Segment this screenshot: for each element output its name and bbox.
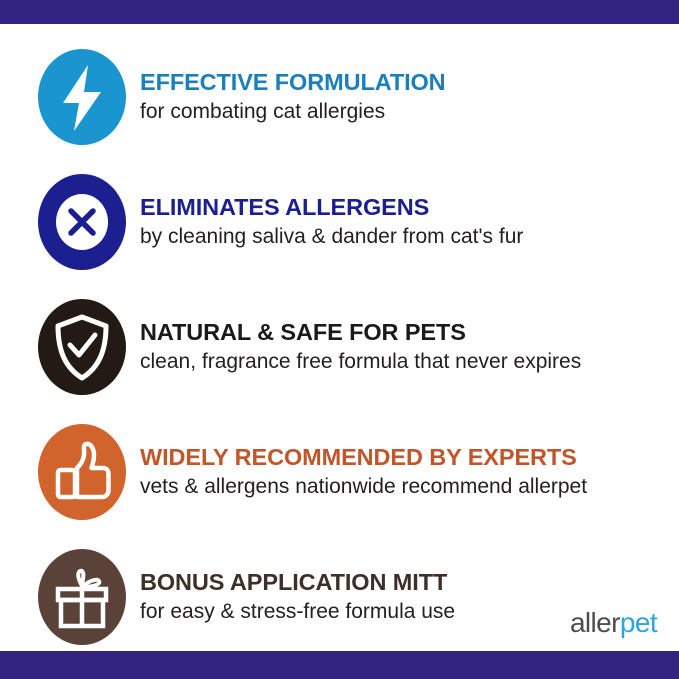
feature-title: BONUS APPLICATION MITT xyxy=(140,569,679,596)
feature-text-eliminates-allergens: ELIMINATES ALLERGENS by cleaning saliva … xyxy=(128,194,679,249)
x-mark-circle-icon xyxy=(36,172,128,272)
feature-row-eliminates-allergens: ELIMINATES ALLERGENS by cleaning saliva … xyxy=(0,159,679,284)
feature-text-widely-recommended: WIDELY RECOMMENDED BY EXPERTS vets & all… xyxy=(128,444,679,499)
allerpet-logo: allerpet xyxy=(570,609,657,637)
feature-row-effective-formulation: EFFECTIVE FORMULATION for combating cat … xyxy=(0,34,679,159)
feature-list: EFFECTIVE FORMULATION for combating cat … xyxy=(0,24,679,651)
feature-text-effective-formulation: EFFECTIVE FORMULATION for combating cat … xyxy=(128,69,679,124)
feature-row-bonus-mitt: BONUS APPLICATION MITT for easy & stress… xyxy=(0,534,679,659)
feature-title: NATURAL & SAFE FOR PETS xyxy=(140,319,679,346)
bottom-accent-bar xyxy=(0,651,679,679)
feature-title: EFFECTIVE FORMULATION xyxy=(140,69,679,96)
feature-title: WIDELY RECOMMENDED BY EXPERTS xyxy=(140,444,679,471)
feature-text-natural-and-safe: NATURAL & SAFE FOR PETS clean, fragrance… xyxy=(128,319,679,374)
feature-row-natural-and-safe: NATURAL & SAFE FOR PETS clean, fragrance… xyxy=(0,284,679,409)
feature-subtitle: for combating cat allergies xyxy=(140,99,679,124)
feature-title: ELIMINATES ALLERGENS xyxy=(140,194,679,221)
feature-row-widely-recommended: WIDELY RECOMMENDED BY EXPERTS vets & all… xyxy=(0,409,679,534)
logo-text-pet: pet xyxy=(620,607,657,638)
feature-subtitle: clean, fragrance free formula that never… xyxy=(140,349,679,374)
top-accent-bar xyxy=(0,0,679,24)
thumbs-up-icon xyxy=(36,422,128,522)
lightning-bolt-icon xyxy=(36,47,128,147)
logo-text-aller: aller xyxy=(570,607,620,638)
gift-box-icon xyxy=(36,547,128,647)
feature-subtitle: vets & allergens nationwide recommend al… xyxy=(140,474,679,499)
feature-subtitle: by cleaning saliva & dander from cat's f… xyxy=(140,224,679,249)
shield-check-icon xyxy=(36,297,128,397)
product-feature-panel: EFFECTIVE FORMULATION for combating cat … xyxy=(0,0,679,679)
